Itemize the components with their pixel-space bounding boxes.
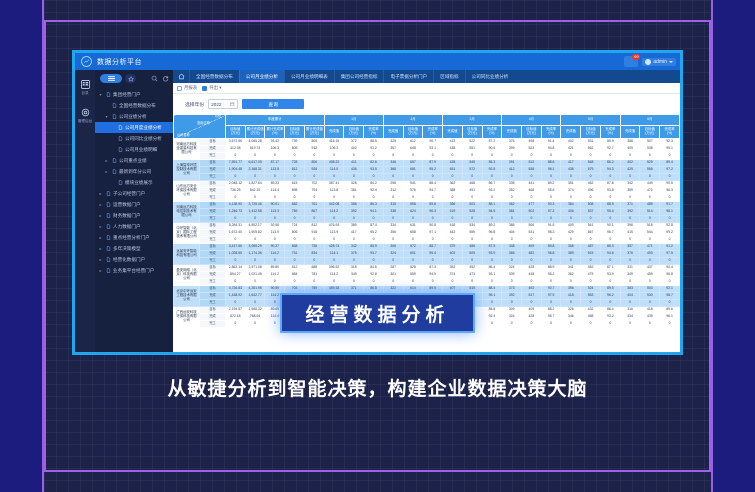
table-cell-value: 0	[640, 195, 660, 202]
tree-arrow-icon[interactable]: ▾	[98, 92, 103, 97]
table-cell-value: 406	[561, 209, 581, 216]
table-cell-value: 0	[403, 195, 423, 202]
table-cell-value: 352	[443, 265, 463, 272]
table-cell-value: 94.7	[423, 188, 443, 195]
table-cell-value: 0	[304, 216, 324, 223]
document-icon	[111, 158, 117, 164]
home-icon[interactable]	[173, 70, 189, 83]
notification-button[interactable]: 99	[624, 56, 638, 67]
table-row[interactable]: 远景安环智能科技有限公司目标3,417.663,085.2990.2765873…	[174, 244, 680, 251]
table-cell-value: 0	[561, 174, 581, 181]
table-cell-value: 612	[285, 265, 305, 272]
table-cell-value: 90.7	[423, 139, 443, 146]
table-cell-value: 374	[561, 188, 581, 195]
table-cell-value: 0	[344, 195, 364, 202]
table-sub-header: 目标值(万元)	[285, 126, 305, 139]
year-input[interactable]: 2022	[208, 99, 238, 109]
nav-tab[interactable]: 公司同比业绩分析	[465, 70, 515, 83]
table-cell-value: 113.9	[265, 230, 285, 237]
table-row[interactable]: 完成894.271,021.45114.2684781114.234992.83…	[174, 272, 680, 279]
tree-node[interactable]: ▸重点经营分析门户	[95, 232, 173, 243]
table-cell-value: 90.59	[265, 286, 285, 293]
table-cell-value: 537	[581, 209, 601, 216]
table-cell-value: 418	[443, 223, 463, 230]
table-cell-value: 0	[383, 174, 403, 181]
tree-node-label: 经营化数据门户	[113, 257, 145, 263]
document-icon	[117, 136, 123, 142]
table-cell-value: 834	[304, 251, 324, 258]
table-cell-value: 812	[304, 223, 324, 230]
table-cell-value: 598	[403, 202, 423, 209]
table-cell-value: 867	[304, 209, 324, 216]
table-cell-value: 0	[344, 237, 364, 244]
table-group-header: 6月	[620, 115, 679, 126]
table-cell-value: 0	[226, 195, 246, 202]
table-cell-value: 95.1	[660, 146, 680, 153]
table-cell-value: 524	[522, 146, 542, 153]
table-cell-value: 442.08	[324, 202, 344, 209]
table-cell-value: 489	[640, 202, 660, 209]
table-cell-value: 761	[304, 202, 324, 209]
table-cell-value: 579	[581, 167, 601, 174]
table-cell-value: 2,863.14	[226, 265, 246, 272]
table-cell-value: 0	[423, 153, 443, 160]
table-cell-value: 418	[640, 307, 660, 314]
table-cell-value: 309	[502, 307, 522, 314]
document-icon	[111, 169, 117, 175]
table-cell-metric: 目标	[200, 160, 226, 167]
tree-node[interactable]: ▸财务数据门户	[95, 210, 173, 221]
table-cell-value: 0	[285, 195, 305, 202]
nav-tab[interactable]: 公司月业绩明细表	[284, 70, 334, 83]
table-row[interactable]: 山东远方安全环保技术有限公司目标2,048.121,827.6489.23615…	[174, 181, 680, 188]
table-cell-company: 河南远方科技电控制技术有限公司	[174, 202, 200, 223]
tree-node[interactable]: ▸运营数据门户	[95, 199, 173, 210]
menu-list-icon[interactable]	[100, 74, 122, 83]
table-cell-value: 90.4	[660, 265, 680, 272]
table-cell-value: 0	[324, 216, 344, 223]
table-cell-value: 0	[640, 321, 660, 328]
breadcrumb-item-report[interactable]: 月报表	[177, 85, 197, 91]
table-cell-value: 530	[640, 293, 660, 300]
table-cell-value: 0	[304, 153, 324, 160]
table-head: 月份指标名称公司名称年度累计1月2月3月4月5月6月 目标值(万元)累计完成值(…	[174, 115, 680, 139]
table-row[interactable]: 盈安网络（北京）科技有限公司目标2,863.142,571.0889.80612…	[174, 265, 680, 272]
table-cell-value: 324	[502, 314, 522, 321]
table-cell-value: 89.9	[423, 286, 443, 293]
tree-node[interactable]: ▸人力数据门户	[95, 221, 173, 232]
table-cell-metric: 完工	[200, 300, 226, 307]
table-cell-value: 324	[502, 265, 522, 272]
table-cell-value: 1,642.77	[245, 293, 265, 300]
table-cell-metric: 目标	[200, 223, 226, 230]
document-icon	[105, 268, 111, 274]
table-cell-value: 373	[502, 286, 522, 293]
table-cell-value: 338	[383, 209, 403, 216]
table-cell-value: 1,904.48	[226, 167, 246, 174]
table-cell-value: 335	[502, 181, 522, 188]
table-cell-value: 90.6	[482, 146, 502, 153]
table-cell-value: 429	[561, 230, 581, 237]
table-cell-value: 615	[285, 181, 305, 188]
tree-node[interactable]: 公司同比业绩分析	[95, 133, 173, 144]
table-cell-value: 0	[462, 153, 482, 160]
tree-node[interactable]: ▸多年决策模型	[95, 243, 173, 254]
table-cell-value: 93.5	[364, 167, 384, 174]
refresh-icon[interactable]	[161, 75, 169, 83]
table-cell-value: 0	[502, 153, 522, 160]
table-cell-metric: 完工	[200, 321, 226, 328]
table-cell-value: 736	[304, 244, 324, 251]
table-cell-value: 496	[581, 188, 601, 195]
table-cell-value: 0	[640, 153, 660, 160]
table-cell-value: 531	[522, 230, 542, 237]
nav-tab[interactable]: 集团公司经营指标	[334, 70, 384, 83]
tree-node-label: 多年决策模型	[113, 246, 141, 252]
table-cell-metric: 完成	[200, 167, 226, 174]
table-cell-value: 298	[383, 181, 403, 188]
table-row[interactable]: 完成1,246.731,412.58113.3759867114.239294.…	[174, 209, 680, 216]
table-cell-value: 0	[600, 300, 620, 307]
table-cell-value: 114.2	[265, 272, 285, 279]
table-cell-value: 389	[561, 251, 581, 258]
table-cell-value: 805	[304, 139, 324, 146]
table-corner-header: 月份指标名称公司名称	[174, 115, 226, 139]
table-cell-value: 402	[620, 160, 640, 167]
table-cell-value: 0	[502, 216, 522, 223]
table-row[interactable]: 完成1,672.401,905.82113.9806918113.941795.…	[174, 230, 680, 237]
table-cell-value: 0	[462, 258, 482, 265]
table-cell-metric: 完成	[200, 209, 226, 216]
table-cell-value: 0	[522, 153, 542, 160]
table-cell-value: 0	[600, 153, 620, 160]
table-row[interactable]: 完工00000000000000000000000	[174, 174, 680, 181]
filter-bar: 选择年份 2022 查询	[173, 94, 680, 114]
nav-tab[interactable]: 公司月业绩分析	[239, 70, 284, 83]
table-cell-value: 90.1	[600, 223, 620, 230]
table-cell-value: 0	[640, 258, 660, 265]
table-cell-value: 601	[403, 251, 423, 258]
table-cell-value: 113.8	[324, 188, 344, 195]
table-cell-value: 0	[620, 258, 640, 265]
table-cell-value: 0	[285, 258, 305, 265]
table-cell-value: 487	[581, 244, 601, 251]
tree-arrow-icon[interactable]: ▸	[98, 224, 103, 229]
table-cell-value: 1,968.32	[245, 307, 265, 314]
table-cell-value: 391	[502, 160, 522, 167]
table-cell-value: 0	[640, 216, 660, 223]
table-cell-value: 417	[344, 230, 364, 237]
table-cell-value: 0	[403, 216, 423, 223]
table-cell-value: 806	[285, 230, 305, 237]
user-menu[interactable]: admin	[642, 58, 676, 66]
table-cell-company: 远景安环智能科技有限公司	[174, 244, 200, 265]
table-row[interactable]: 完工00000000000000000000000	[174, 153, 680, 160]
table-cell-value: 368	[383, 167, 403, 174]
table-cell-value: 1,028.55	[226, 251, 246, 258]
tree-node[interactable]: ▸经营化数据门户	[95, 254, 173, 265]
rail-label-catalog: 目录	[81, 91, 88, 96]
table-cell-value: 88.5	[364, 139, 384, 146]
tree-node[interactable]: ▸公司重点业绩	[95, 155, 173, 166]
table-sub-header: 完成率(%)	[660, 126, 680, 139]
tree-arrow-icon[interactable]: ▾	[104, 114, 109, 119]
table-row[interactable]: 完工00000000000000000000000	[174, 279, 680, 286]
table-cell-value: 371	[344, 286, 364, 293]
table-cell-value: 93.1	[423, 146, 443, 153]
tree-node-label: 全国经营数据分布	[119, 103, 156, 109]
table-row[interactable]: 完工00000000000000000000000	[174, 216, 680, 223]
table-cell-value: 0	[522, 279, 542, 286]
tree-arrow-icon[interactable]: ▸	[98, 213, 103, 218]
table-sub-header: 完成值	[443, 126, 463, 139]
table-cell-value: 87.3	[423, 265, 443, 272]
table-cell-value: 509	[462, 251, 482, 258]
table-cell-value: 349	[620, 272, 640, 279]
tree-arrow-icon[interactable]: ▸	[98, 191, 103, 196]
tree-node-label: 公司重点业绩	[119, 158, 147, 164]
table-cell-value: 0	[245, 174, 265, 181]
table-cell-value: 88.3	[600, 244, 620, 251]
table-cell-value: 425	[620, 167, 640, 174]
table-cell-value: 0	[443, 174, 463, 181]
table-cell-value: 84.2	[364, 181, 384, 188]
table-cell-value: 631	[403, 223, 423, 230]
table-cell-value: 0	[226, 321, 246, 328]
table-cell-value: 86.4	[482, 265, 502, 272]
star-icon[interactable]	[125, 74, 136, 83]
table-cell-value: 452	[462, 265, 482, 272]
backdrop-edge-right	[711, 0, 713, 492]
table-row[interactable]: 完成736.25842.19114.4698794113.836192.4312…	[174, 188, 680, 195]
table-cell-value: 452	[581, 265, 601, 272]
rail-item-admin[interactable]: 管理后台	[78, 107, 92, 124]
chevron-down-icon	[669, 61, 673, 63]
table-cell-value: 438	[561, 167, 581, 174]
table-cell-value: 498.22	[324, 160, 344, 167]
table-cell-value: 371	[620, 202, 640, 209]
table-cell-value: 439	[640, 314, 660, 321]
table-cell-value: 0	[600, 174, 620, 181]
search-button[interactable]: 查询	[242, 99, 304, 109]
table-cell-value: 287	[383, 265, 403, 272]
table-cell-value: 0	[660, 216, 680, 223]
table-cell-value: 0	[423, 195, 443, 202]
tree-arrow-icon[interactable]: ▸	[98, 268, 103, 273]
table-cell-value: 0	[620, 195, 640, 202]
table-cell-value: 91.2	[660, 244, 680, 251]
table-cell-value: 551	[462, 146, 482, 153]
table-cell-value: 1,905.82	[245, 230, 265, 237]
tree-node-label: 公司业绩分析	[119, 114, 147, 120]
table-cell-value: 365	[502, 251, 522, 258]
table-cell-value: 517	[522, 293, 542, 300]
table-cell-value: 0	[600, 321, 620, 328]
table-cell-value: 326	[561, 307, 581, 314]
table-cell-value: 0	[304, 279, 324, 286]
tree-node[interactable]: 模块业绩展示	[95, 177, 173, 188]
table-cell-value: 514	[640, 209, 660, 216]
table-cell-value: 0	[443, 153, 463, 160]
tree-arrow-icon[interactable]: ▸	[98, 257, 103, 262]
nav-tab[interactable]: 全国经营数据分布	[189, 70, 239, 83]
tree-arrow-icon[interactable]: ▸	[98, 202, 103, 207]
table-cell-value: 4,281.95	[245, 286, 265, 293]
table-row[interactable]: 河南远方科技全重量科技有限公司目标3,672.564,065.2893.4273…	[174, 139, 680, 146]
tree-node[interactable]: 公司月度业绩分析	[95, 122, 173, 133]
nav-tab[interactable]: 区域指标	[433, 70, 464, 83]
table-row[interactable]: 中环智能（北京）国际工程技术有限公司目标5,284.314,892.1792.5…	[174, 223, 680, 230]
table-row[interactable]: 完成1,904.482,168.31113.8812926114.043693.…	[174, 167, 680, 174]
table-cell-value: 548	[581, 160, 601, 167]
table-cell-value: 0	[620, 279, 640, 286]
table-cell-value: 432	[581, 307, 601, 314]
table-cell-metric: 完工	[200, 174, 226, 181]
table-cell-value: 413	[443, 139, 463, 146]
table-cell-value: 0	[660, 237, 680, 244]
tree-node[interactable]: ▾集团经营门户	[95, 89, 173, 100]
table-cell-value: 92.8	[364, 272, 384, 279]
table-cell-value: 459.18	[324, 286, 344, 293]
table-cell-value: 612	[403, 139, 423, 146]
table-row[interactable]: 完工00000000000000000000000	[174, 237, 680, 244]
table-cell-value: 331	[620, 265, 640, 272]
table-cell-value: 88.9	[541, 265, 561, 272]
table-cell-value: 0	[660, 195, 680, 202]
table-cell-value: 402	[561, 139, 581, 146]
table-cell-value: 0	[600, 216, 620, 223]
table-cell-value: 0	[443, 237, 463, 244]
chart-circle-icon	[81, 56, 92, 67]
breadcrumb-item-export[interactable]: 导出 ▾	[202, 85, 221, 91]
table-cell-value: 0	[226, 258, 246, 265]
tree-node[interactable]: ▾公司业绩分析	[95, 111, 173, 122]
table-cell-value: 106.3	[324, 146, 344, 153]
table-cell-value: 0	[364, 258, 384, 265]
table-cell-value: 437	[640, 265, 660, 272]
table-cell-value: 114.0	[324, 167, 344, 174]
table-cell-value: 0	[541, 279, 561, 286]
table-cell-value: 0	[265, 153, 285, 160]
table-cell-value: 0	[502, 300, 522, 307]
table-cell-value: 0	[226, 237, 246, 244]
sidebar-tree-pane: ▾集团经营门户全国经营数据分布▾公司业绩分析公司月度业绩分析公司同比业绩分析公司…	[95, 70, 173, 352]
tree-node-label: 重点经营分析门户	[113, 235, 150, 241]
table-cell-value: 0	[364, 195, 384, 202]
tree-arrow-icon[interactable]: ▸	[104, 158, 109, 163]
tree-arrow-icon[interactable]: ▸	[104, 169, 109, 174]
table-cell-value: 842.19	[245, 188, 265, 195]
table-cell-value: 93.9	[482, 251, 502, 258]
table-cell-value: 86.3	[364, 202, 384, 209]
sidebar-toolbar	[95, 70, 173, 87]
tree-node[interactable]: ▸业务集平台经营门户	[95, 265, 173, 276]
tree-arrow-icon[interactable]: ▸	[98, 235, 103, 240]
table-cell-value: 86.4	[600, 307, 620, 314]
table-cell-value: 97.1	[423, 230, 443, 237]
table-cell-value: 0	[245, 321, 265, 328]
tree-node-label: 运营数据门户	[113, 202, 141, 208]
tree-node[interactable]: 公司月业绩明细	[95, 144, 173, 155]
table-cell-company: 山东远方安全环保技术有限公司	[174, 181, 200, 202]
table-cell-value: 404	[502, 230, 522, 237]
table-cell-value: 0	[403, 174, 423, 181]
rail-item-catalog[interactable]: 目录	[80, 79, 90, 96]
table-cell-value: 0	[561, 279, 581, 286]
table-row[interactable]: 完工00000000000000000000000	[174, 258, 680, 265]
table-cell-value: 806	[304, 160, 324, 167]
tree-arrow-icon[interactable]: ▸	[98, 246, 103, 251]
table-cell-value: 379	[443, 244, 463, 251]
table-cell-value: 362	[443, 181, 463, 188]
tree-node[interactable]: ▸最新到年分公司	[95, 166, 173, 177]
table-cell-value: 93.9	[600, 272, 620, 279]
tree-node[interactable]: ▸子公司经营门户	[95, 188, 173, 199]
table-cell-value: 624	[403, 209, 423, 216]
table-cell-value: 404	[620, 293, 640, 300]
table-cell-value: 92.8	[482, 167, 502, 174]
table-cell-value: 528	[462, 209, 482, 216]
table-cell-value: 334	[383, 223, 403, 230]
table-sub-header: 完成率(%)	[600, 126, 620, 139]
table-cell-value: 0	[423, 237, 443, 244]
table-cell-value: 0	[304, 237, 324, 244]
table-cell-value: 0	[522, 216, 542, 223]
table-cell-value: 87.1	[600, 265, 620, 272]
table-cell-value: 918	[304, 230, 324, 237]
table-cell-value: 498	[522, 139, 542, 146]
nav-tab[interactable]: 电子票据分析门户	[383, 70, 433, 83]
table-cell-value: 0	[383, 216, 403, 223]
table-cell-value: 0	[383, 237, 403, 244]
table-cell-value: 0	[245, 237, 265, 244]
table-cell-value: 412.08	[226, 146, 246, 153]
table-row[interactable]: 完成412.08519.74106.3805912106.340291.2357…	[174, 146, 680, 153]
search-icon[interactable]	[150, 75, 158, 83]
table-cell-value: 384	[561, 202, 581, 209]
table-row[interactable]: 完工00000000000000000000000	[174, 195, 680, 202]
table-cell-value: 356	[383, 230, 403, 237]
table-cell-value: 106.3	[265, 146, 285, 153]
table-row[interactable]: 河南远方科技电控制技术有限公司目标4,138.903,725.4690.0168…	[174, 202, 680, 209]
table-cell-value: 428	[522, 314, 542, 321]
table-row[interactable]: 完成1,028.551,174.36114.2731834114.137593.…	[174, 251, 680, 258]
table-cell-value: 361	[344, 188, 364, 195]
table-cell-value: 411	[344, 160, 364, 167]
table-cell-value: 0	[226, 216, 246, 223]
table-cell-value: 0	[620, 153, 640, 160]
table-cell-value: 0	[640, 237, 660, 244]
table-cell-value: 306	[383, 244, 403, 251]
table-cell-value: 334	[620, 314, 640, 321]
table-cell-value: 503	[640, 286, 660, 293]
table-row[interactable]: 上海智享环境控制技术有限公司目标7,591.776,617.0587.17728…	[174, 160, 680, 167]
table-cell-value: 374	[443, 272, 463, 279]
table-cell-value: 97.9	[541, 293, 561, 300]
table-cell-value: 912	[304, 146, 324, 153]
table-cell-value: 96.1	[660, 314, 680, 321]
tree-node[interactable]: 全国经营数据分布	[95, 100, 173, 111]
table-cell-value: 315	[383, 202, 403, 209]
table-cell-value: 698	[285, 188, 305, 195]
table-cell-value: 781	[304, 272, 324, 279]
table-cell-value: 95.7	[541, 314, 561, 321]
table-sub-header: 目标值(万元)	[226, 126, 246, 139]
table-sub-header: 累计完成值(万元)	[304, 126, 324, 139]
table-cell-value: 93.2	[600, 314, 620, 321]
table-cell-value: 3,085.29	[245, 244, 265, 251]
table-row[interactable]: 北京中环远安工程技术有限公司目标4,726.834,281.9590.59703…	[174, 286, 680, 293]
